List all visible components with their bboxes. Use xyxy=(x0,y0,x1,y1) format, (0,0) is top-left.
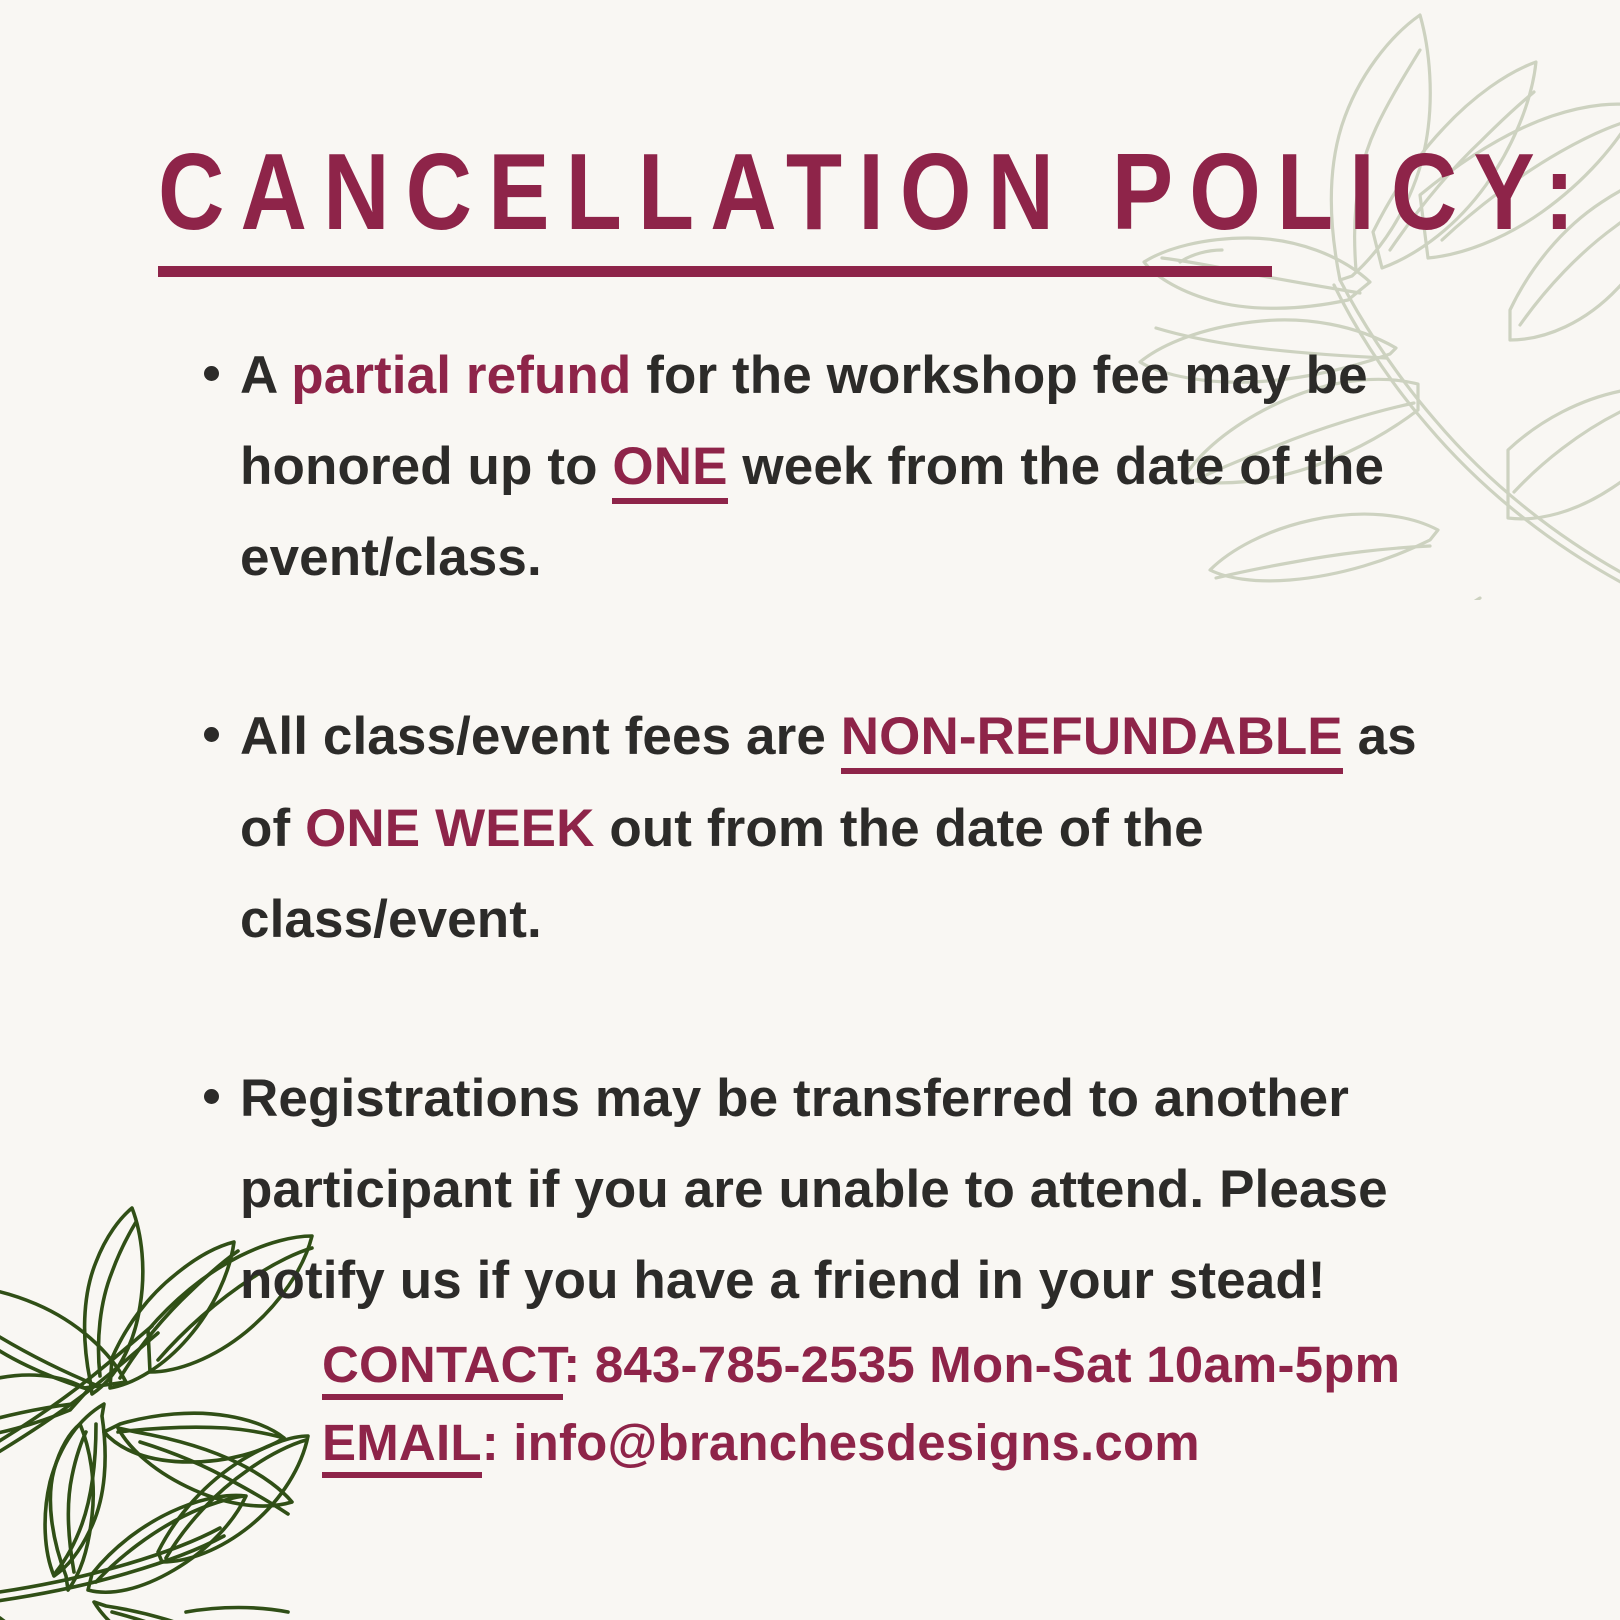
policy-bullet-text: A partial refund for the workshop fee ma… xyxy=(240,346,1384,587)
contact-email-line: EMAIL: info@branchesdesigns.com xyxy=(322,1404,1442,1482)
text-run-accent: ONE WEEK xyxy=(305,799,594,858)
policy-bullet-item: Registrations may be transferred to anot… xyxy=(196,1053,1436,1326)
policy-bullet-list: A partial refund for the workshop fee ma… xyxy=(196,330,1436,1326)
policy-bullet-item: A partial refund for the workshop fee ma… xyxy=(196,330,1436,603)
contact-label: CONTACT xyxy=(322,1336,563,1400)
policy-bullet-text: Registrations may be transferred to anot… xyxy=(240,1069,1388,1310)
policy-bullet-text: All class/event fees are NON-REFUNDABLE … xyxy=(240,707,1417,948)
bullet-marker-icon xyxy=(204,1089,219,1104)
contact-phone-line: CONTACT: 843-785-2535 Mon-Sat 10am-5pm xyxy=(322,1326,1442,1404)
contact-email-value[interactable]: : info@branchesdesigns.com xyxy=(482,1414,1200,1471)
bullet-marker-icon xyxy=(204,727,219,742)
contact-block: CONTACT: 843-785-2535 Mon-Sat 10am-5pm E… xyxy=(322,1326,1442,1481)
policy-bullet-item: All class/event fees are NON-REFUNDABLE … xyxy=(196,691,1436,964)
title-underline xyxy=(158,266,1272,277)
bullet-marker-icon xyxy=(204,366,219,381)
text-run-plain: Registrations may be transferred to anot… xyxy=(240,1069,1388,1310)
text-run-plain: A xyxy=(240,346,291,405)
text-run-plain: All class/event fees are xyxy=(240,707,841,766)
text-run-accent-underline: ONE xyxy=(612,437,727,504)
text-run-accent: partial refund xyxy=(291,346,631,405)
page-title-block: CANCELLATION POLICY: xyxy=(158,138,1338,277)
cancellation-policy-poster: CANCELLATION POLICY: A partial refund fo… xyxy=(0,0,1620,1620)
email-label: EMAIL xyxy=(322,1414,482,1478)
page-title: CANCELLATION POLICY: xyxy=(158,138,1338,247)
text-run-accent-underline: NON-REFUNDABLE xyxy=(841,707,1343,774)
contact-phone-value: : 843-785-2535 Mon-Sat 10am-5pm xyxy=(563,1336,1400,1393)
